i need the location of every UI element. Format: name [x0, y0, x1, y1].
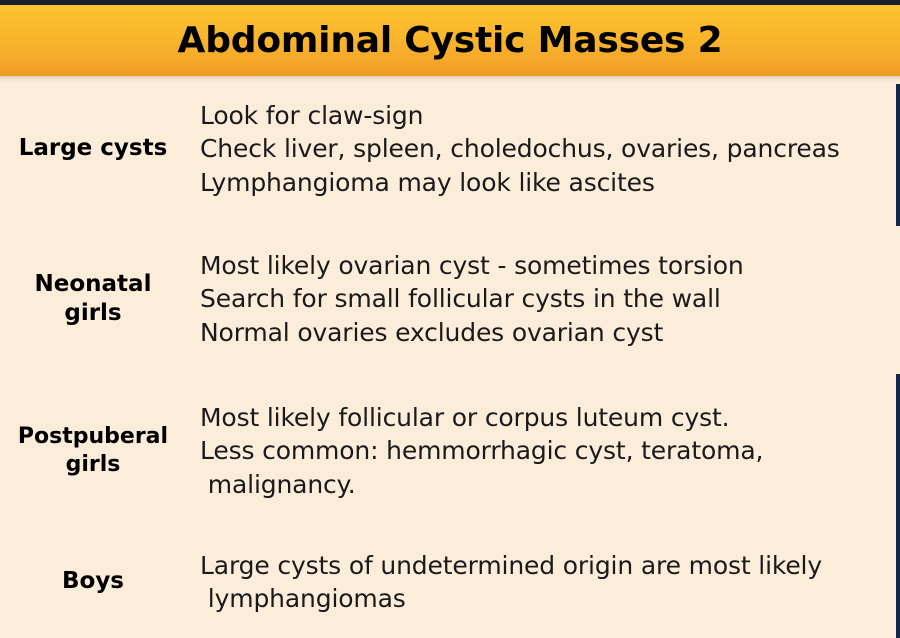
row-label-boys: Boys	[0, 567, 186, 596]
content-line: Most likely follicular or corpus luteum …	[200, 401, 900, 435]
slide-title: Abdominal Cystic Masses 2	[178, 23, 723, 59]
table-row: Large cysts Look for claw-sign Check liv…	[0, 90, 900, 208]
content-line: Most likely ovarian cyst - sometimes tor…	[200, 249, 900, 283]
content-line: Search for small follicular cysts in the…	[200, 282, 900, 316]
table-row: Boys Large cysts of undetermined origin …	[0, 537, 900, 627]
content-line: Less common: hemmorrhagic cyst, teratoma…	[200, 434, 900, 468]
content-line: Lymphangioma may look like ascites	[200, 166, 900, 200]
content-line: Check liver, spleen, choledochus, ovarie…	[200, 132, 900, 166]
row-content-boys: Large cysts of undetermined origin are m…	[186, 549, 900, 616]
content-line: Large cysts of undetermined origin are m…	[200, 549, 900, 583]
row-content-neonatal-girls: Most likely ovarian cyst - sometimes tor…	[186, 249, 900, 350]
table-row: Postpuberal girls Most likely follicular…	[0, 390, 900, 512]
content-line: Normal ovaries excludes ovarian cyst	[200, 316, 900, 350]
row-content-postpuberal-girls: Most likely follicular or corpus luteum …	[186, 401, 900, 502]
row-content-large-cysts: Look for claw-sign Check liver, spleen, …	[186, 99, 900, 200]
row-label-neonatal-girls: Neonatal girls	[0, 270, 186, 329]
slide-canvas: Abdominal Cystic Masses 2 Large cysts Lo…	[0, 0, 900, 638]
table-row: Neonatal girls Most likely ovarian cyst …	[0, 240, 900, 358]
slide-header-band: Abdominal Cystic Masses 2	[0, 5, 900, 76]
content-table: Large cysts Look for claw-sign Check liv…	[0, 82, 900, 638]
content-line: Look for claw-sign	[200, 99, 900, 133]
row-label-postpuberal-girls: Postpuberal girls	[0, 423, 186, 479]
row-label-large-cysts: Large cysts	[0, 134, 186, 163]
content-line: malignancy.	[200, 468, 900, 502]
content-line: lymphangiomas	[200, 582, 900, 616]
